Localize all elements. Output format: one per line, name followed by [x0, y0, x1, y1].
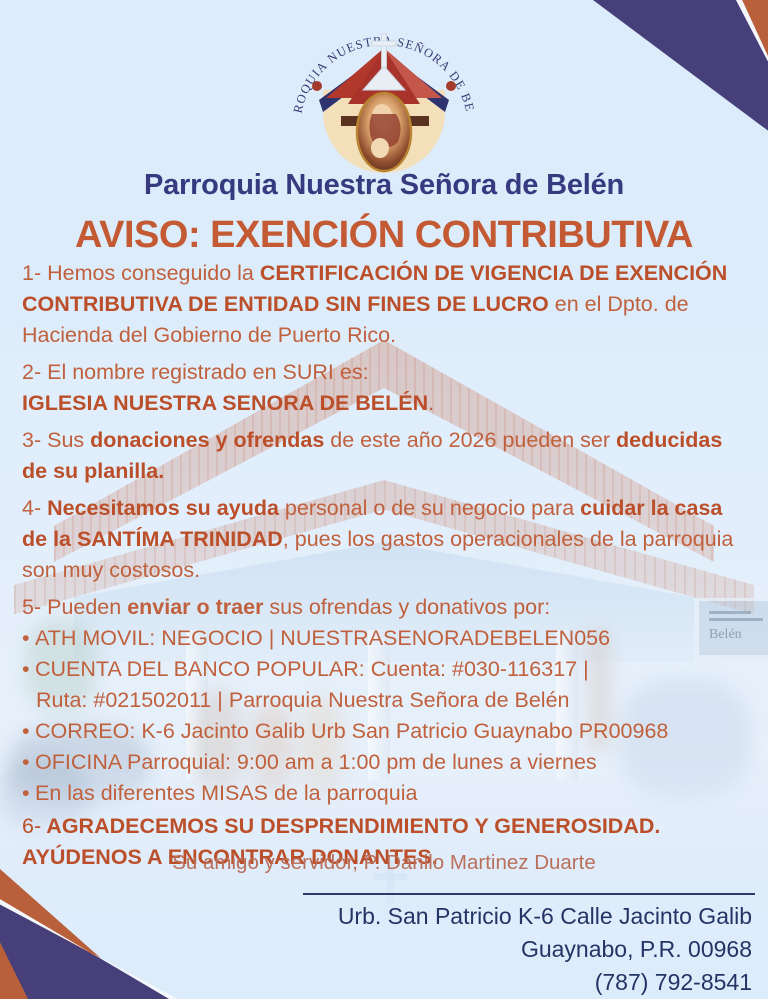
bullet-dot-icon: • — [22, 747, 35, 778]
bullet-text: ATH MOVIL: NEGOCIO | NUESTRASENORADEBELE… — [35, 626, 610, 650]
list-item-misas: •En las diferentes MISAS de la parroquia — [22, 778, 752, 809]
notice-item-3: 3- Sus donaciones y ofrendas de este año… — [22, 425, 752, 487]
notice-item-1: 1- Hemos conseguido la CERTIFICACIÓN DE … — [22, 258, 752, 351]
item3-bold-1: donaciones y ofrendas — [90, 428, 324, 452]
bullet-text: OFICINA Parroquial: 9:00 am a 1:00 pm de… — [35, 750, 597, 774]
list-item-oficina: •OFICINA Parroquial: 9:00 am a 1:00 pm d… — [22, 747, 752, 778]
item5-number: 5- — [22, 595, 41, 619]
address-line-1: Urb. San Patricio K-6 Calle Jacinto Gali… — [232, 900, 752, 933]
item4-number: 4- — [22, 496, 41, 520]
page-title-notice: AVISO: EXENCIÓN CONTRIBUTIVA — [0, 214, 768, 257]
parish-notice-poster: Belén PARROQUI — [0, 0, 768, 999]
parish-crest-icon: PARROQUIA NUESTRA SEÑORA DE BELÉN — [279, 8, 489, 176]
parish-address-block: Urb. San Patricio K-6 Calle Jacinto Gali… — [232, 900, 752, 999]
bullet-text: CORREO: K-6 Jacinto Galib Urb San Patric… — [35, 719, 668, 743]
item4-mid: personal o de su negocio para — [279, 496, 580, 520]
item5-intro: 5- Pueden enviar o traer sus ofrendas y … — [22, 592, 752, 623]
crest-dot-right — [446, 81, 456, 91]
footer-divider — [303, 893, 755, 895]
list-item-banco-popular-continuation: Ruta: #021502011 | Parroquia Nuestra Señ… — [22, 685, 752, 716]
list-item-banco-popular: •CUENTA DEL BANCO POPULAR: Cuenta: #030-… — [22, 654, 752, 685]
notice-item-5: 5- Pueden enviar o traer sus ofrendas y … — [22, 592, 752, 809]
item2-bold: IGLESIA NUESTRA SENORA DE BELÉN — [22, 391, 428, 415]
bullet-text: CUENTA DEL BANCO POPULAR: Cuenta: #030-1… — [35, 657, 589, 681]
parish-crest-logo: PARROQUIA NUESTRA SEÑORA DE BELÉN — [279, 8, 489, 176]
signature-line: Su amigo y servidor, P. Danilo Martinez … — [0, 851, 768, 875]
item5-bold: enviar o traer — [127, 595, 263, 619]
list-item-ath-movil: •ATH MOVIL: NEGOCIO | NUESTRASENORADEBEL… — [22, 623, 752, 654]
item3-number: 3- — [22, 428, 41, 452]
page-title-parish-name: Parroquia Nuestra Señora de Belén — [0, 169, 768, 202]
item3-lead: Sus — [41, 428, 90, 452]
crest-cross-vertical — [382, 34, 387, 68]
donation-method-list: •ATH MOVIL: NEGOCIO | NUESTRASENORADEBEL… — [22, 623, 752, 809]
item2-tail: . — [428, 391, 434, 415]
item1-number: 1- — [22, 261, 41, 285]
notice-body: 1- Hemos conseguido la CERTIFICACIÓN DE … — [22, 258, 752, 873]
item6-number: 6- — [22, 814, 41, 838]
bullet-continuation-text: Ruta: #021502011 | Parroquia Nuestra Señ… — [36, 688, 570, 712]
item6-line-1: AGRADECEMOS SU DESPRENDIMIENTO Y GENEROS… — [41, 814, 660, 838]
crest-cross-horizontal — [372, 41, 396, 46]
item5-lead: Pueden — [41, 595, 127, 619]
item2-number: 2- — [22, 360, 41, 384]
bullet-text: En las diferentes MISAS de la parroquia — [35, 781, 417, 805]
address-line-2: Guaynabo, P.R. 00968 — [232, 933, 752, 966]
phone-number: (787) 792-8541 — [232, 966, 752, 999]
corner-decoration-top-right-purple — [593, 0, 768, 132]
notice-item-4: 4- Necesitamos su ayuda personal o de su… — [22, 493, 752, 586]
item2-lead: El nombre registrado en SURI es: — [41, 360, 368, 384]
bullet-dot-icon: • — [22, 716, 35, 747]
notice-item-2: 2- El nombre registrado en SURI es: IGLE… — [22, 357, 752, 419]
bullet-dot-icon: • — [22, 778, 35, 809]
item4-bold-1: Necesitamos su ayuda — [41, 496, 279, 520]
item3-mid: de este año 2026 pueden ser — [324, 428, 616, 452]
item1-lead: Hemos conseguido la — [41, 261, 260, 285]
crest-child-figure — [371, 138, 389, 158]
item5-tail: sus ofrendas y donativos por: — [263, 595, 550, 619]
bullet-dot-icon: • — [22, 654, 35, 685]
crest-dot-left — [312, 81, 322, 91]
bullet-dot-icon: • — [22, 623, 35, 654]
list-item-correo: •CORREO: K-6 Jacinto Galib Urb San Patri… — [22, 716, 752, 747]
